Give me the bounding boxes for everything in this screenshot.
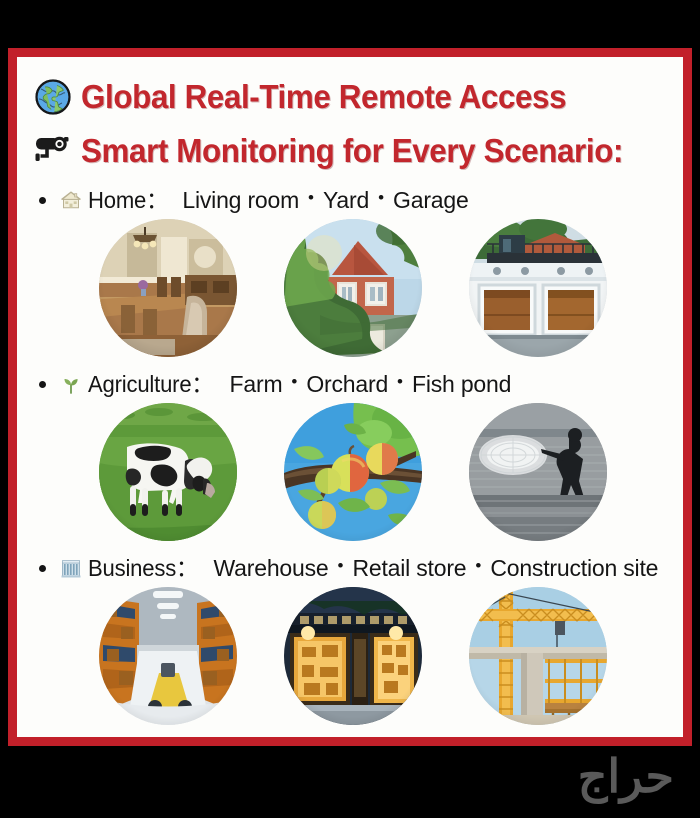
category-item: Orchard	[306, 371, 388, 397]
category-row-agriculture: Agriculture： Farm • Orchard • Fish pond	[31, 371, 669, 541]
item-separator: •	[397, 369, 403, 395]
thumb-row-agriculture	[31, 403, 669, 541]
red-framed-card: Global Real-Time Remote Access Smart Mo	[8, 48, 692, 746]
bullet-icon	[39, 565, 46, 572]
category-item: Construction site	[490, 555, 658, 581]
house-icon	[59, 188, 83, 212]
category-item: Yard	[323, 187, 369, 213]
office-building-icon	[59, 556, 83, 580]
thumb-retail-store	[284, 587, 422, 725]
thumb-yard	[284, 219, 422, 357]
headline-1-text: Global Real-Time Remote Access	[81, 77, 566, 117]
category-item: Garage	[393, 187, 469, 213]
thumb-farm	[99, 403, 237, 541]
category-items-business: Warehouse • Retail store • Construction …	[214, 555, 659, 581]
category-item: Fish pond	[412, 371, 511, 397]
thumb-fish-pond	[469, 403, 607, 541]
headline-smart-monitoring: Smart Monitoring for Every Scenario:	[31, 129, 669, 173]
watermark-haraj: حراج	[578, 748, 674, 804]
category-item: Living room	[182, 187, 299, 213]
thumb-garage	[469, 219, 607, 357]
thumb-orchard	[284, 403, 422, 541]
category-item: Farm	[230, 371, 283, 397]
thumb-construction-site	[469, 587, 607, 725]
category-item: Warehouse	[214, 555, 329, 581]
item-separator: •	[291, 369, 297, 395]
bullet-icon	[39, 381, 46, 388]
thumb-warehouse	[99, 587, 237, 725]
item-separator: •	[378, 185, 384, 211]
thumb-living-room	[99, 219, 237, 357]
card-content: Global Real-Time Remote Access Smart Mo	[17, 57, 683, 737]
cctv-camera-icon	[31, 129, 75, 173]
category-label-business: Business：	[88, 555, 198, 581]
item-separator: •	[475, 553, 481, 579]
category-line-agriculture: Agriculture： Farm • Orchard • Fish pond	[31, 371, 669, 397]
category-line-business: Business： Warehouse • Retail store • Con…	[31, 555, 669, 581]
headline-global-access: Global Real-Time Remote Access	[31, 75, 669, 119]
thumb-row-business	[31, 587, 669, 725]
category-label-agriculture: Agriculture：	[88, 371, 213, 397]
poster-canvas: Global Real-Time Remote Access Smart Mo	[0, 0, 700, 818]
category-items-agriculture: Farm • Orchard • Fish pond	[230, 371, 512, 397]
category-row-home: Home： Living room • Yard • Garage	[31, 187, 669, 357]
category-row-business: Business： Warehouse • Retail store • Con…	[31, 555, 669, 725]
headline-2-text: Smart Monitoring for Every Scenario:	[81, 131, 623, 171]
bullet-icon	[39, 197, 46, 204]
thumb-row-home	[31, 219, 669, 357]
category-line-home: Home： Living room • Yard • Garage	[31, 187, 669, 213]
category-label-home: Home：	[88, 187, 168, 213]
seedling-icon	[59, 372, 83, 396]
category-items-home: Living room • Yard • Garage	[182, 187, 468, 213]
category-item: Retail store	[352, 555, 466, 581]
item-separator: •	[338, 553, 344, 579]
item-separator: •	[308, 185, 314, 211]
globe-icon	[31, 75, 75, 119]
